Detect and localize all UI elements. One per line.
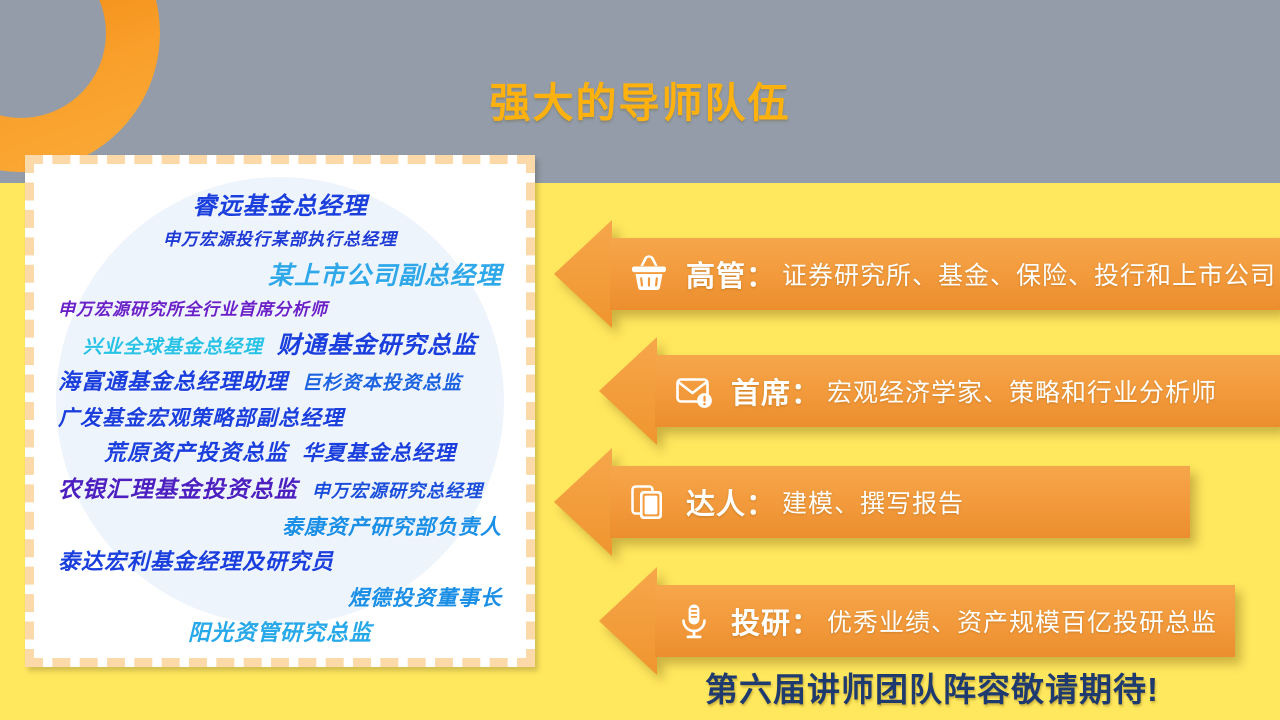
word-cloud-term: 煜德投资董事长 (348, 587, 502, 608)
word-cloud-list: 睿远基金总经理申万宏源投行某部执行总经理某上市公司副总经理申万宏源研究所全行业首… (34, 164, 526, 658)
slide-canvas: 强大的导师队伍 睿远基金总经理申万宏源投行某部执行总经理某上市公司副总经理申万宏… (0, 0, 1280, 720)
word-cloud-term: 阳光资管研究总监 (188, 622, 372, 644)
word-cloud-term: 农银汇理基金投资总监 (58, 478, 298, 501)
banner-label: 高管： (686, 253, 776, 295)
banner-daren[interactable]: 达人： 建模、撰写报告 (610, 466, 1190, 538)
banner-shouxi[interactable]: 首席： 宏观经济学家、策略和行业分析师 (655, 355, 1280, 427)
word-cloud-term: 海富通基金总经理助理 (58, 371, 288, 393)
banner-description: 宏观经济学家、策略和行业分析师 (827, 373, 1217, 409)
banner-gaoguan[interactable]: 高管： 证券研究所、基金、保险、投行和上市公司 (610, 238, 1280, 310)
banner-label: 达人： (686, 481, 776, 523)
word-cloud-term: 申万宏源研究总经理 (312, 483, 483, 501)
banner-touyan[interactable]: 投研： 优秀业绩、资产规模百亿投研总监 (655, 585, 1235, 657)
word-cloud-term: 广发基金宏观策略部副总经理 (58, 407, 344, 428)
word-cloud-term: 巨杉资本投资总监 (302, 374, 462, 393)
word-cloud-line: 阳光资管研究总监 (44, 622, 516, 644)
word-cloud-line: 煜德投资董事长 (44, 587, 516, 608)
word-cloud-line: 申万宏源投行某部执行总经理 (44, 232, 516, 249)
word-cloud-term: 申万宏源研究所全行业首席分析师 (58, 302, 328, 319)
word-cloud-line: 泰康资产研究部负责人 (44, 516, 516, 537)
word-cloud-term: 华夏基金总经理 (302, 442, 456, 463)
word-cloud-line: 农银汇理基金投资总监申万宏源研究总经理 (44, 478, 516, 501)
microphone-icon (673, 600, 715, 642)
word-cloud-line: 海富通基金总经理助理巨杉资本投资总监 (44, 371, 516, 393)
word-cloud-term: 睿远基金总经理 (193, 194, 368, 218)
documents-icon (628, 481, 670, 523)
envelope-alert-icon (673, 370, 715, 412)
arrow-head (554, 448, 612, 556)
word-cloud-line: 睿远基金总经理 (44, 194, 516, 218)
word-cloud-term: 兴业全球基金总经理 (83, 338, 263, 357)
word-cloud-term: 某上市公司副总经理 (268, 263, 502, 289)
banner-label: 投研： (731, 600, 821, 642)
word-cloud-term: 泰达宏利基金经理及研究员 (58, 551, 334, 573)
banner-description: 建模、撰写报告 (782, 484, 964, 520)
word-cloud-line: 兴业全球基金总经理财通基金研究总监 (44, 333, 516, 357)
footer-note: 第六届讲师团队阵容敬请期待! (705, 663, 1265, 711)
word-cloud-term: 荒原资产投资总监 (104, 442, 288, 464)
word-cloud-card: 睿远基金总经理申万宏源投行某部执行总经理某上市公司副总经理申万宏源研究所全行业首… (25, 155, 535, 667)
banner-label: 首席： (731, 370, 821, 412)
word-cloud-line: 泰达宏利基金经理及研究员 (44, 551, 516, 573)
arrow-head (599, 337, 657, 445)
page-title: 强大的导师队伍 (0, 69, 1280, 129)
basket-icon (628, 253, 670, 295)
word-cloud-line: 某上市公司副总经理 (44, 263, 516, 289)
word-cloud-line: 荒原资产投资总监华夏基金总经理 (44, 442, 516, 464)
word-cloud-term: 泰康资产研究部负责人 (282, 516, 502, 537)
banner-description: 优秀业绩、资产规模百亿投研总监 (827, 603, 1217, 639)
word-cloud-line: 广发基金宏观策略部副总经理 (44, 407, 516, 428)
word-cloud-term: 财通基金研究总监 (277, 333, 477, 357)
arrow-head (599, 567, 657, 675)
word-cloud-line: 申万宏源研究所全行业首席分析师 (44, 302, 516, 319)
word-cloud-term: 申万宏源投行某部执行总经理 (163, 232, 397, 249)
arrow-head (554, 220, 612, 328)
banner-description: 证券研究所、基金、保险、投行和上市公司 (782, 256, 1276, 292)
